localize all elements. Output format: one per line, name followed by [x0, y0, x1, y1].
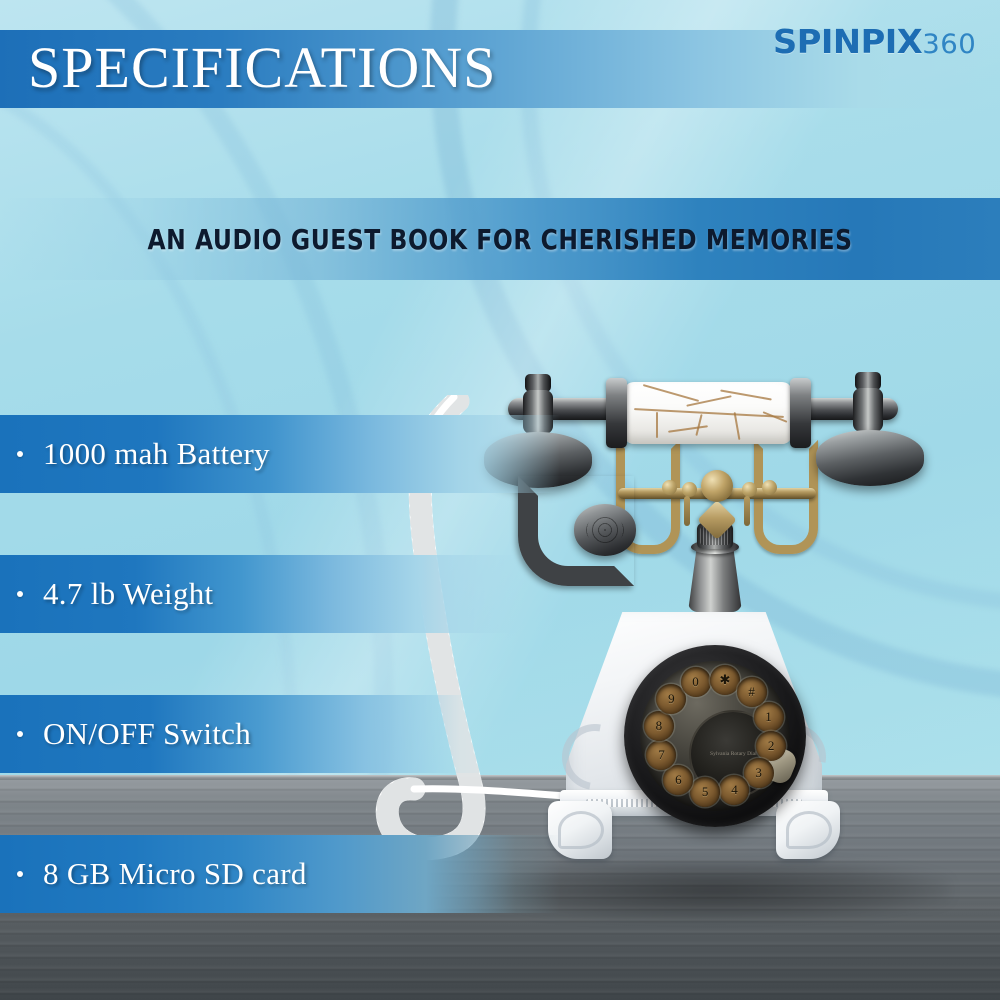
handset-grip-cap-left: [606, 378, 627, 448]
spec-item-battery: 1000 mah Battery: [0, 415, 560, 493]
brand-logo-suffix: 360: [922, 29, 976, 60]
spec-bullet-icon: [17, 451, 23, 457]
spec-label: 4.7 lb Weight: [43, 576, 213, 612]
dial-hole-4[interactable]: 4: [719, 775, 749, 805]
spec-item-weight: 4.7 lb Weight: [0, 555, 520, 633]
spec-label: 1000 mah Battery: [43, 436, 270, 472]
dial-hole-2[interactable]: 2: [756, 731, 786, 761]
dial-hole-✱[interactable]: ✱: [710, 665, 740, 695]
spec-bullet-icon: [17, 871, 23, 877]
dial-hole-1[interactable]: 1: [754, 702, 784, 732]
dial-center-label: Sylvania Rotary Dial: [710, 750, 757, 757]
handset-grip-cap-right: [790, 378, 811, 448]
spec-item-power-switch: ON/OFF Switch: [0, 695, 500, 773]
handset-earpiece-right: [816, 430, 924, 486]
subtitle: AN AUDIO GUEST BOOK FOR CHERISHED MEMORI…: [35, 198, 965, 280]
rotary-dial[interactable]: Sylvania Rotary Dial 1234567890✱#: [624, 645, 806, 827]
spec-item-storage: 8 GB Micro SD card: [0, 835, 560, 913]
dial-hole-#[interactable]: #: [737, 677, 767, 707]
page-title: SPECIFICATIONS: [28, 28, 496, 108]
infographic-canvas: Sylvania Rotary Dial 1234567890✱#: [0, 0, 1000, 1000]
spec-bullet-icon: [17, 731, 23, 737]
spec-label: 8 GB Micro SD card: [43, 856, 307, 892]
spec-label: ON/OFF Switch: [43, 716, 251, 752]
handset-ceramic-grip: [624, 382, 792, 444]
dial-hole-0[interactable]: 0: [681, 667, 711, 697]
spec-bullet-icon: [17, 591, 23, 597]
handset-stem-right: [853, 388, 883, 432]
dial-hole-6[interactable]: 6: [663, 765, 693, 795]
brand-logo: SPINPIX360: [773, 22, 976, 65]
brand-logo-main: SPINPIX: [773, 22, 922, 61]
dial-hole-3[interactable]: 3: [744, 758, 774, 788]
dial-hole-8[interactable]: 8: [644, 711, 674, 741]
base-foot-right: [776, 801, 840, 859]
dial-hole-5[interactable]: 5: [690, 777, 720, 807]
mouthpiece-cup: [574, 504, 636, 556]
rotary-dial-plate[interactable]: Sylvania Rotary Dial 1234567890✱#: [640, 661, 790, 811]
